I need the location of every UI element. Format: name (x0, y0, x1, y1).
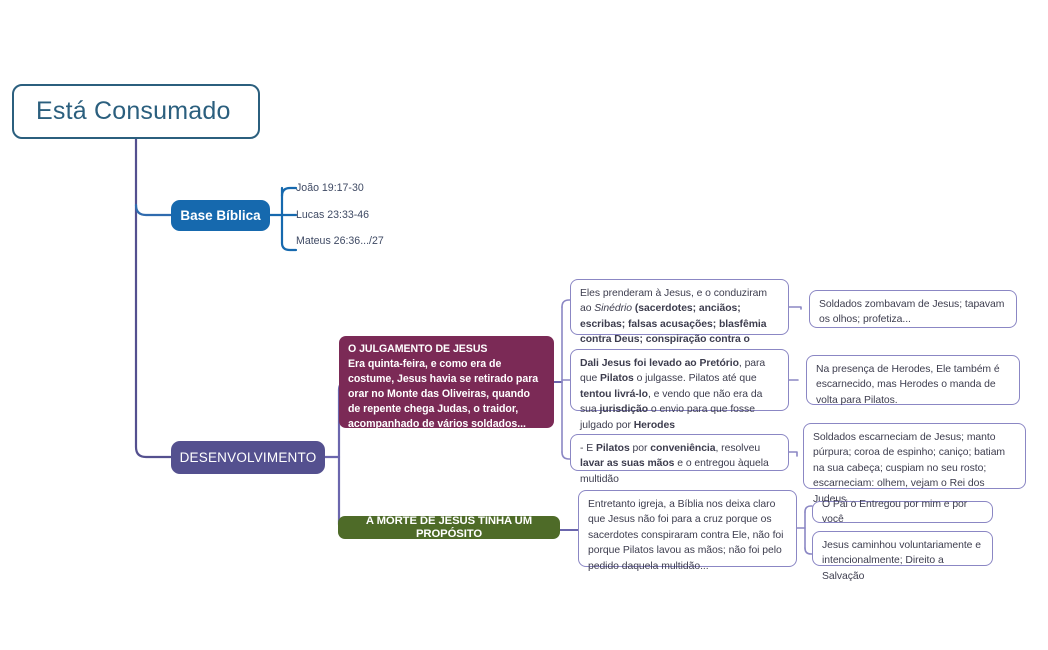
root-node-label: Está Consumado (36, 97, 231, 126)
branch-node-desenvolvimento-label: DESENVOLVIMENTO (180, 450, 317, 466)
branch-node-desenvolvimento[interactable]: DESENVOLVIMENTO (171, 441, 325, 474)
topic-node-julgamento[interactable]: O JULGAMENTO DE JESUS Era quinta-feira, … (339, 336, 554, 428)
leaf-box-escarneciam[interactable]: Soldados escarneciam de Jesus; manto púr… (803, 423, 1026, 489)
reference-leaf-lucas[interactable]: Lucas 23:33-46 (296, 209, 369, 221)
detail-box-conveniencia[interactable]: - E Pilatos por conveniência, resolveu l… (570, 434, 789, 471)
reference-leaf-lucas-label: Lucas 23:33-46 (296, 209, 369, 221)
reference-leaf-joao[interactable]: João 19:17-30 (296, 182, 364, 194)
topic-node-proposito-label: A MORTE DE JESUS TINHA UM PROPÓSITO (338, 515, 560, 541)
branch-node-base-biblica-label: Base Bíblica (180, 208, 260, 224)
leaf-box-herodes[interactable]: Na presença de Herodes, Ele também é esc… (806, 355, 1020, 405)
topic-node-julgamento-body: Era quinta-feira, e como era de costume,… (348, 357, 545, 432)
mindmap-canvas: Está Consumado Base Bíblica João 19:17-3… (0, 0, 1048, 650)
reference-leaf-mateus[interactable]: Mateus 26:36.../27 (296, 235, 384, 247)
detail-box-entretanto[interactable]: Entretanto igreja, a Bíblia nos deixa cl… (578, 490, 797, 567)
reference-leaf-mateus-label: Mateus 26:36.../27 (296, 235, 384, 247)
root-node[interactable]: Está Consumado (12, 84, 260, 139)
detail-box-sinedrio[interactable]: Eles prenderam à Jesus, e o conduziram a… (570, 279, 789, 335)
topic-node-proposito[interactable]: A MORTE DE JESUS TINHA UM PROPÓSITO (338, 516, 560, 539)
leaf-box-pai-entregou[interactable]: O Pai o Entregou por mim e por você (812, 501, 993, 523)
branch-node-base-biblica[interactable]: Base Bíblica (171, 200, 270, 231)
leaf-box-zombavam[interactable]: Soldados zombavam de Jesus; tapavam os o… (809, 290, 1017, 328)
leaf-box-caminhou[interactable]: Jesus caminhou voluntariamente e intenci… (812, 531, 993, 566)
reference-leaf-joao-label: João 19:17-30 (296, 182, 364, 194)
topic-node-julgamento-title: O JULGAMENTO DE JESUS (348, 342, 545, 357)
detail-box-pretorio[interactable]: Dali Jesus foi levado ao Pretório, para … (570, 349, 789, 411)
